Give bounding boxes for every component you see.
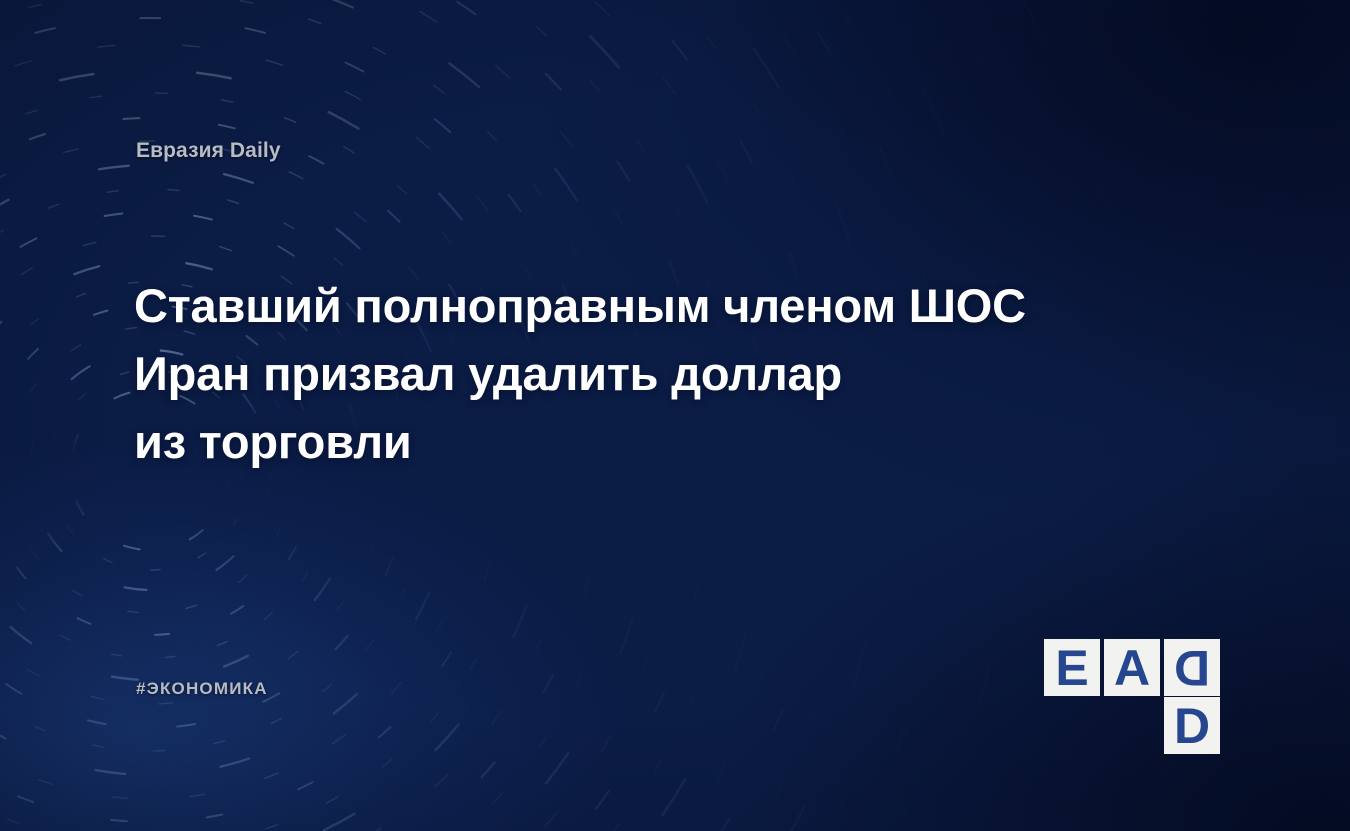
category-tag[interactable]: #ЭКОНОМИКА [136, 679, 268, 699]
logo-letter-a: A [1114, 643, 1150, 693]
news-cover-card: Евразия Daily Ставший полноправным члено… [0, 0, 1350, 831]
logo-letter-d: D [1174, 701, 1210, 751]
headline-line-2: Иран призвал удалить доллар [134, 340, 1194, 408]
headline-line-3: из торговли [134, 408, 1194, 476]
logo-letter-d-flipped: D [1174, 643, 1210, 693]
logo-letter-e: E [1055, 643, 1088, 693]
headline: Ставший полноправным членом ШОС Иран при… [134, 272, 1194, 476]
publisher-wordmark: Евразия Daily [136, 139, 281, 163]
headline-line-1: Ставший полноправным членом ШОС [134, 272, 1194, 340]
logo-tile-d-lower: D [1164, 697, 1220, 754]
ead-logo: E A D D [1044, 639, 1234, 739]
logo-tile-e: E [1044, 639, 1100, 696]
logo-tile-a: A [1104, 639, 1160, 696]
logo-tile-d-upper: D [1164, 639, 1220, 696]
